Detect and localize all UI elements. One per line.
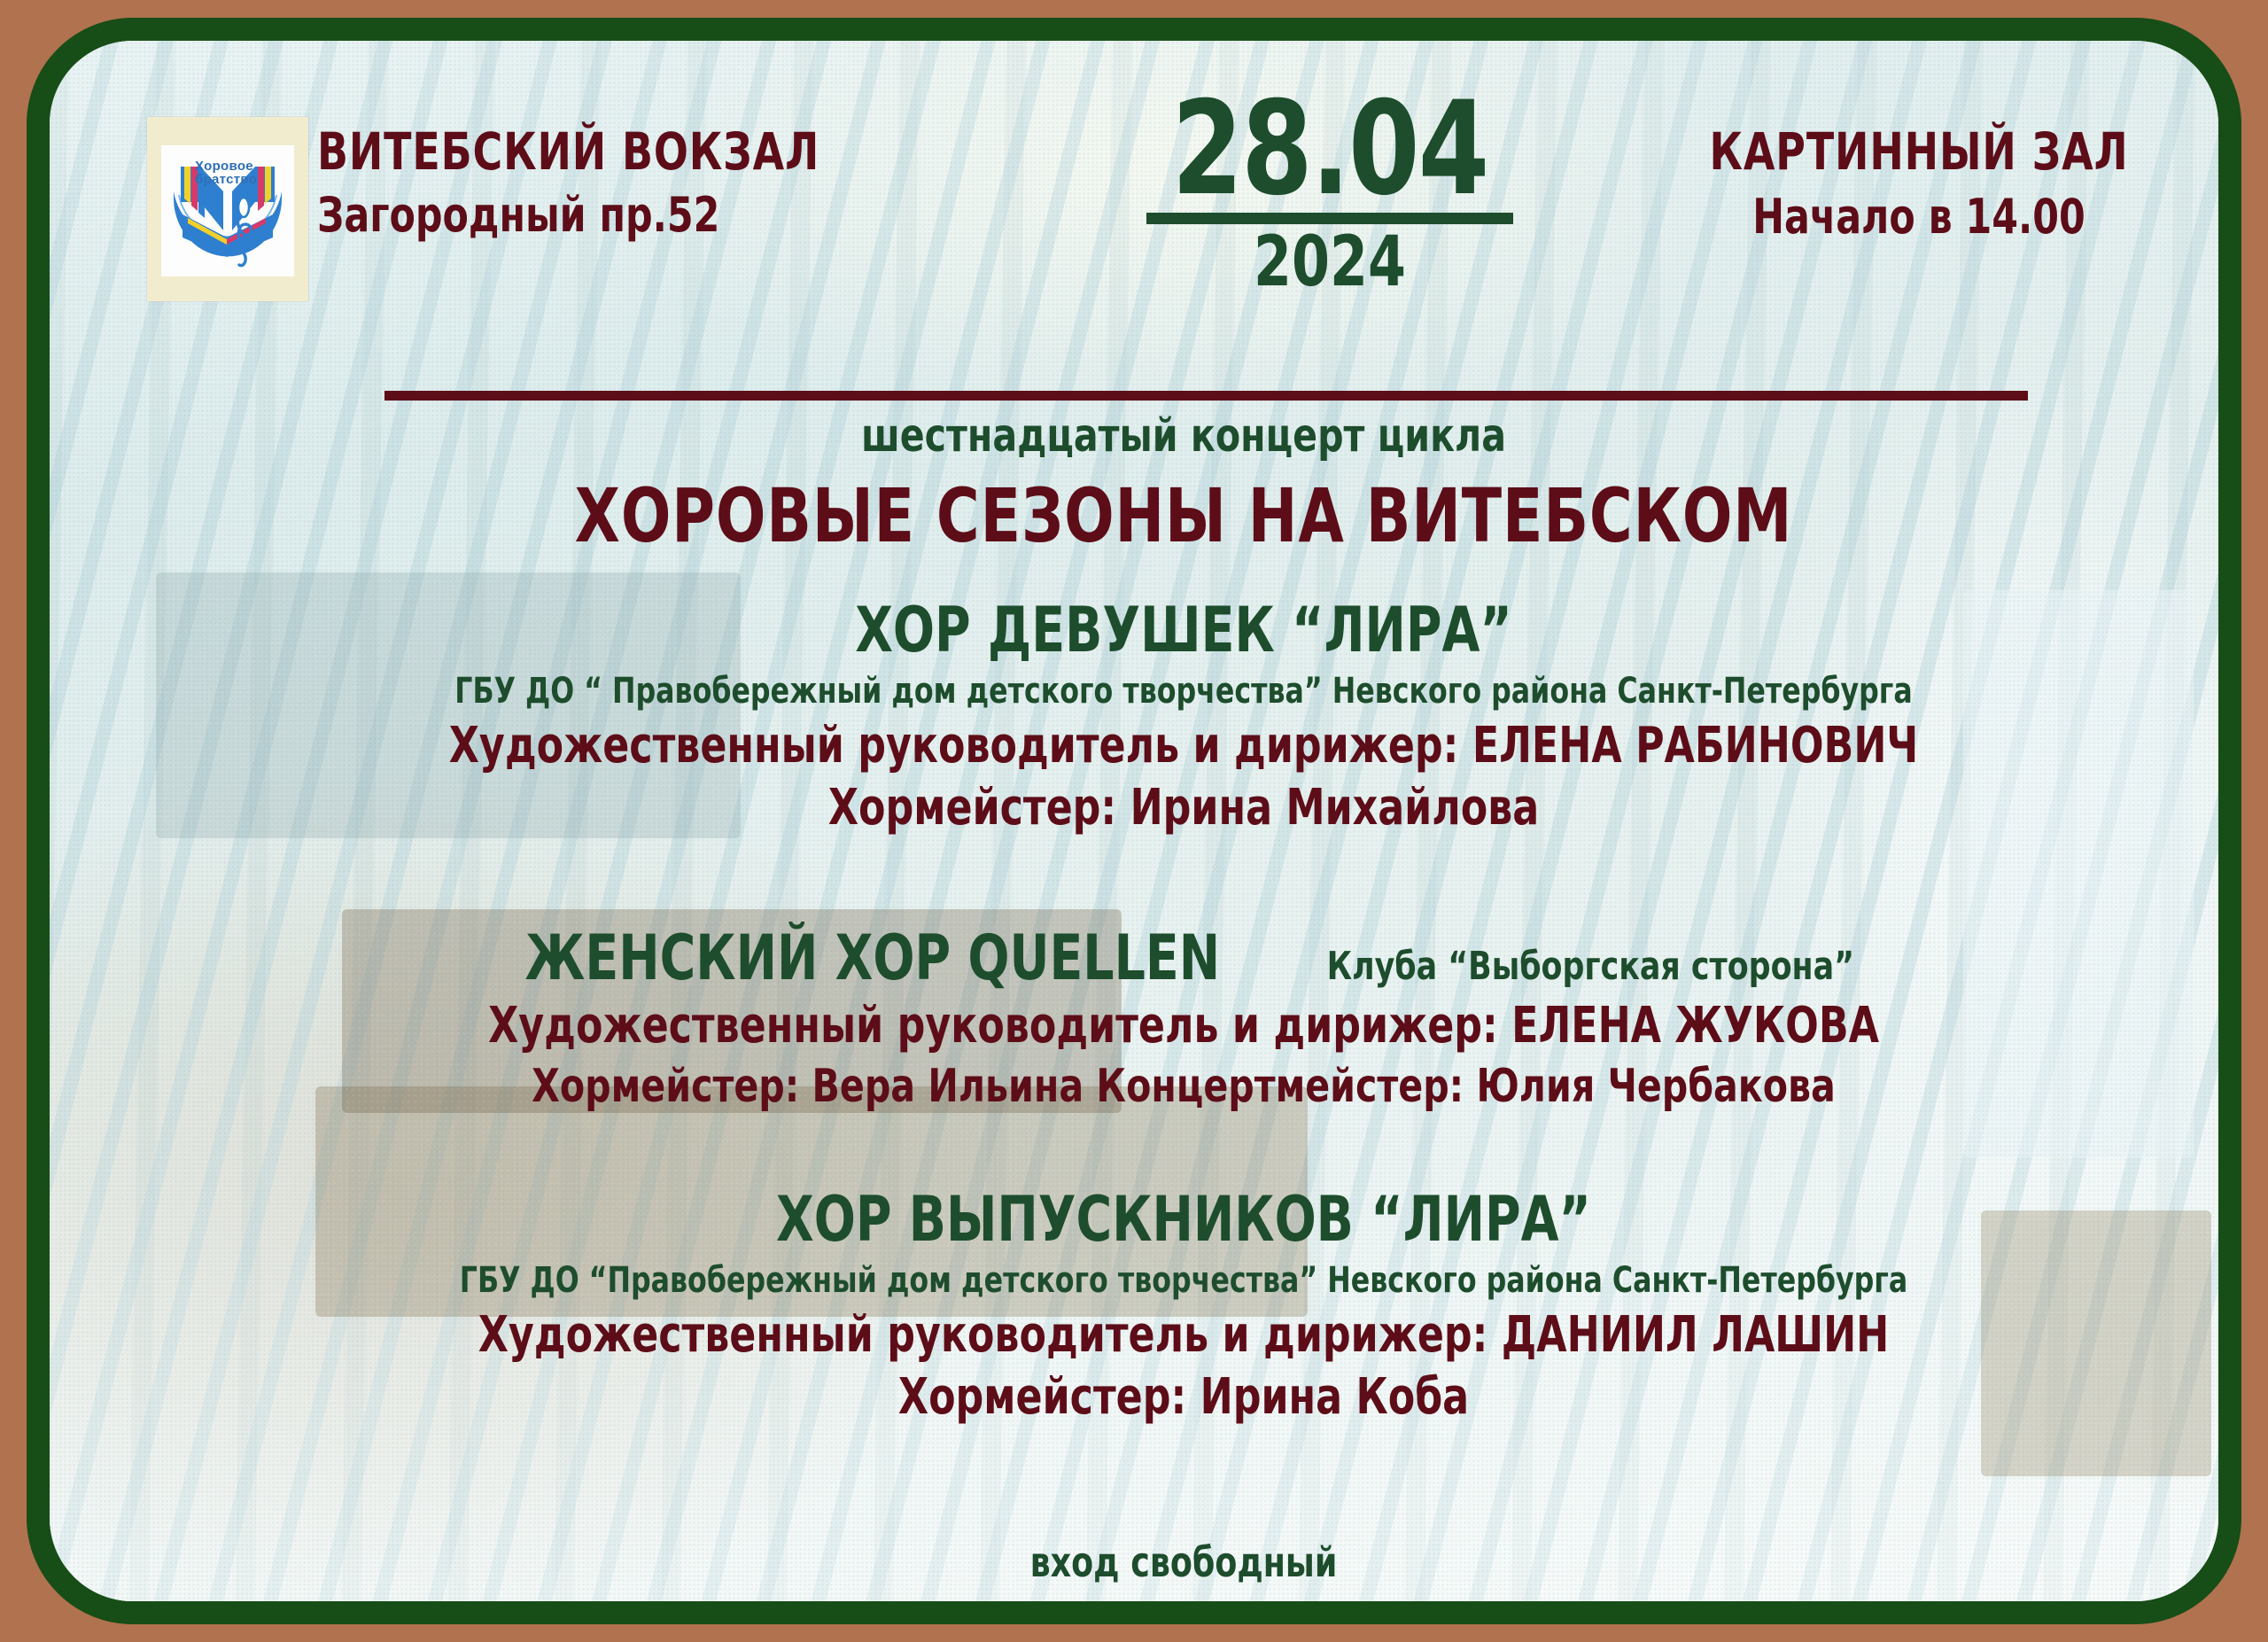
poster-header: Хоровое братство ВИТЕБСКИЙ ВОКЗАЛ Загоро… [103, 83, 2211, 349]
header-divider [384, 391, 2028, 401]
poster-green-frame: Хоровое братство ВИТЕБСКИЙ ВОКЗАЛ Загоро… [27, 18, 2241, 1624]
date-year: 2024 [1112, 228, 1549, 297]
choir-1-organization: ГБУ ДО “ Правобережный дом детского твор… [232, 673, 2134, 709]
logo-caption-wrap: Хоровое братство [147, 117, 308, 301]
choir-section-3: ХОР ВЫПУСКНИКОВ “ЛИРА” ГБУ ДО “Правобере… [103, 1188, 2241, 1422]
venue-address: Загородный пр.52 [317, 191, 863, 239]
cycle-title: ХОРОВЫЕ СЕЗОНЫ НА ВИТЕБСКОМ [232, 479, 2134, 553]
date-block: 28.04 2024 [1082, 92, 1578, 297]
hall-block: КАРТИННЫЙ ЗАЛ Начало в 14.00 [1627, 126, 2211, 241]
logo-caption: Хоровое братство [195, 160, 276, 187]
start-time: Начало в 14.00 [1662, 193, 2177, 241]
choir-3-director: Художественный руководитель и дирижер: Д… [232, 1311, 2134, 1360]
choir-2-title-sub: Клуба “Выборгская сторона” [1326, 947, 1853, 986]
cycle-block: шестнадцатый концерт цикла ХОРОВЫЕ СЕЗОН… [103, 413, 2241, 553]
choir-section-1: ХОР ДЕВУШЕК “ЛИРА” ГБУ ДО “ Правобережны… [103, 599, 2241, 833]
logo-card: Хоровое братство [147, 117, 308, 301]
choir-2-title-row: ЖЕНСКИЙ ХОР QUELLEN Клуба “Выборгская ст… [103, 927, 2241, 989]
date-day: 28.04 [1112, 92, 1549, 206]
choir-section-2: ЖЕНСКИЙ ХОР QUELLEN Клуба “Выборгская ст… [103, 927, 2241, 1109]
hall-name: КАРТИННЫЙ ЗАЛ [1662, 126, 2177, 177]
choir-1-director: Художественный руководитель и дирижер: Е… [232, 721, 2134, 771]
choir-2-director: Художественный руководитель и дирижер: Е… [232, 1001, 2134, 1051]
choir-3-choirmaster: Хормейстер: Ирина Коба [232, 1373, 2134, 1422]
choir-1-title: ХОР ДЕВУШЕК “ЛИРА” [232, 599, 2134, 661]
poster-root: Хоровое братство ВИТЕБСКИЙ ВОКЗАЛ Загоро… [0, 0, 2268, 1642]
choir-2-title: ЖЕНСКИЙ ХОР QUELLEN [524, 927, 1220, 989]
venue-name: ВИТЕБСКИЙ ВОКЗАЛ [317, 126, 863, 177]
poster-content: Хоровое братство ВИТЕБСКИЙ ВОКЗАЛ Загоро… [50, 41, 2218, 1601]
choir-2-staff-line: Хормейстер: Вера Ильина Концертмейстер: … [232, 1063, 2134, 1109]
choir-3-title: ХОР ВЫПУСКНИКОВ “ЛИРА” [232, 1188, 2134, 1250]
choir-3-organization: ГБУ ДО “Правобережный дом детского творч… [232, 1263, 2134, 1298]
cycle-pretitle: шестнадцатый концерт цикла [232, 413, 2134, 459]
venue-block: ВИТЕБСКИЙ ВОКЗАЛ Загородный пр.52 [317, 126, 937, 239]
choir-1-choirmaster: Хормейстер: Ирина Михайлова [232, 783, 2134, 833]
admission-note: вход свободный [232, 1538, 2134, 1586]
